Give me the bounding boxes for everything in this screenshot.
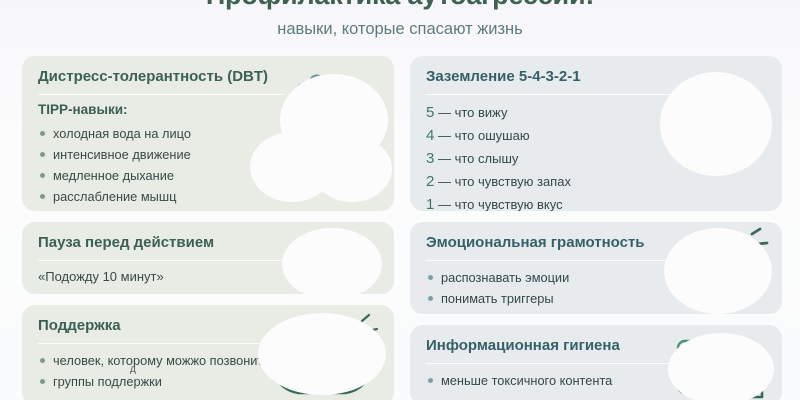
list-item: 3 — что слышу [426,147,768,170]
left-column: Дистресс-толерантность (DBT) TIPP-навыки… [22,56,394,400]
card-heading: Поддержка [38,316,380,336]
step-text: что чувствую вкус [455,197,563,211]
list-item: медленное дыхание [38,165,380,186]
step-number: 1 [426,196,434,211]
step-number: 5 [426,104,434,121]
card-heading: Заземление 5-4-3-2-1 [426,67,768,87]
step-text: что чувствую запах [455,174,571,189]
page-title: Профилактика аутоагрессии: [0,0,800,12]
heading-divider [426,260,672,261]
step-dash: — [438,174,451,189]
step-dash: — [438,151,451,166]
list-item: меньше токсичного контента [426,370,768,391]
step-dash: — [438,197,451,211]
list-item: 2 — что чувствую запах [426,170,768,193]
step-dash: — [438,128,451,143]
heading-divider [426,363,672,364]
card-distress-tolerance[interactable]: Дистресс-толерантность (DBT) TIPP-навыки… [22,56,394,211]
step-number: 3 [426,150,434,167]
heading-divider [38,260,284,261]
list-item: распознавать эмоции [426,267,768,288]
list-item: понимать триггеры [426,288,768,309]
card-heading: Пауза перед действием [38,233,380,253]
step-text: что слышу [455,151,519,166]
support-list: человек, которому можжо позвонить группы… [38,350,380,400]
grounding-steps-list: 5 — что вижу 4 — что ошушаю 3 — что слыш… [426,101,768,211]
list-item: разрешать себе чувствовать [426,309,768,314]
tipp-skill-list: холодная вода на лицо интенсивное движен… [38,123,380,207]
header: Профилактика аутоагрессии: навыки, котор… [0,0,800,40]
tipp-sub-label: TIPP-навыки: [38,101,380,119]
emotional-literacy-list: распознавать эмоции понимать триггеры ра… [426,267,768,314]
step-number: 2 [426,173,434,190]
list-item: интенсивное движение [38,144,380,165]
heading-divider [38,343,284,344]
list-item: расслабление мышц [38,186,380,207]
step-number: 4 [426,127,434,144]
list-item: холодная вода на лицо [38,123,380,144]
card-heading: Эмоциональная грамотность [426,233,768,253]
list-item: группы подлержки [38,371,380,392]
information-hygiene-list: меньше токсичного контента [426,370,768,391]
step-text: что ошушаю [455,128,530,143]
heading-divider [38,94,284,95]
card-support[interactable]: Поддержка человек, которому можжо позвон… [22,305,394,400]
card-heading: Информационная гигиена [426,336,768,356]
list-item: человек, которому можжо позвонить [38,350,380,371]
list-item: просить о помощи [38,392,380,400]
card-pause-before-action[interactable]: Пауза перед действием «Подожду 10 минут» [22,222,394,294]
cards-grid: Дистресс-толерантность (DBT) TIPP-навыки… [22,56,782,400]
list-item: 1 — что чувствую вкус [426,193,768,211]
list-item: 5 — что вижу [426,101,768,124]
card-grounding[interactable]: Заземление 5-4-3-2-1 5 — что вижу 4 — чт… [410,56,782,211]
page-subtitle: навыки, которые спасают жизнь [0,18,800,40]
infographic-page: Профилактика аутоагрессии: навыки, котор… [0,0,800,400]
step-text: что вижу [455,105,508,120]
card-emotional-literacy[interactable]: Эмоциональная грамотность распознавать э… [410,222,782,314]
stray-glyph-artifact: д [130,365,136,375]
right-column: Заземление 5-4-3-2-1 5 — что вижу 4 — чт… [410,56,782,400]
pause-quote: «Подожду 10 минут» [38,267,380,287]
step-dash: — [438,105,451,120]
card-heading: Дистресс-толерантность (DBT) [38,67,380,87]
list-item: 4 — что ошушаю [426,124,768,147]
heading-divider [426,94,672,95]
card-information-hygiene[interactable]: Информационная гигиена меньше токсичного… [410,325,782,400]
